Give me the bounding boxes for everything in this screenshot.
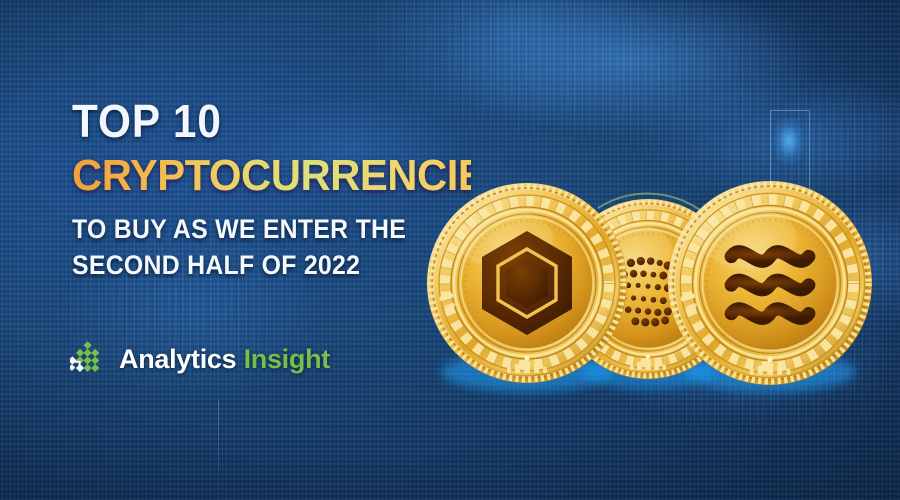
logo-word-insight: Insight — [244, 344, 330, 374]
logo-word-analytics: Analytics — [119, 344, 236, 374]
subtitle-block: TO BUY AS WE ENTER THE SECOND HALF OF 20… — [72, 212, 458, 284]
analytics-insight-dots-logo — [70, 340, 108, 378]
page-title: CRYPTOCURRENCIES — [72, 154, 471, 198]
headline-block: TOP 10 CRYPTOCURRENCIES TO BUY AS WE ENT… — [72, 98, 492, 284]
subtitle-line-2: SECOND HALF OF 2022 — [72, 248, 458, 284]
logo-wordmark: Analytics Insight — [119, 346, 330, 373]
crypto-banner: TOP 10 CRYPTOCURRENCIES TO BUY AS WE ENT… — [0, 0, 900, 500]
coin-3-libra[interactable] — [668, 181, 872, 385]
analytics-insight-logo[interactable]: Analytics Insight — [70, 340, 330, 378]
kicker-text: TOP 10 — [72, 98, 458, 144]
subtitle-line-1: TO BUY AS WE ENTER THE — [72, 214, 406, 244]
